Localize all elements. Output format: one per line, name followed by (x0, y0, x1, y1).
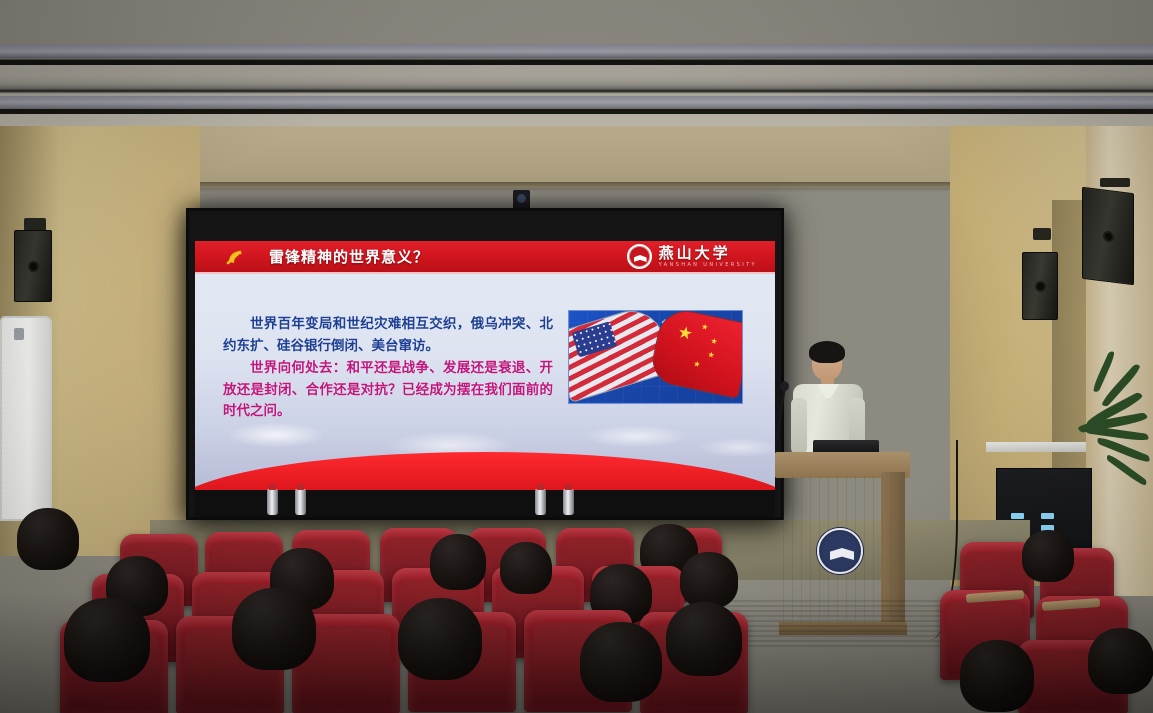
slide-title: 雷锋精神的世界意义？ (269, 246, 429, 267)
audience-head (17, 508, 79, 570)
ribbon-layer (195, 452, 775, 490)
ac-grill (0, 350, 38, 500)
audience-head (232, 588, 316, 670)
ceiling-beam (0, 44, 1153, 58)
slide-paragraph-1: 世界百年变局和世纪灾难相互交织，俄乌冲突、北约东扩、硅谷银行倒闭、美台窜访。 (223, 314, 553, 358)
audience-head (960, 640, 1034, 712)
slide-red-ribbon (195, 448, 775, 490)
slide-cloud-decoration (195, 386, 775, 456)
university-seal-icon (817, 528, 863, 574)
presenter-hair (809, 341, 845, 363)
audience-head (398, 598, 482, 680)
university-name-cn: 燕山大学 (659, 246, 757, 261)
star-icon: ★ (692, 360, 701, 369)
star-icon: ★ (707, 351, 716, 360)
audience-head (1022, 530, 1074, 582)
equipment-shelf (986, 442, 1086, 452)
auditorium-scene: 雷锋精神的世界意义？ 燕山大学 YANSHAN UNIVERSITY 世界百年变… (0, 0, 1153, 713)
star-icon: ★ (710, 337, 719, 346)
ceiling-mounted-camera (513, 190, 530, 210)
wall-speaker-left (14, 230, 52, 302)
audience-head (430, 534, 486, 590)
palm-frond (1092, 350, 1116, 393)
audience-head (666, 602, 742, 676)
water-bottle (535, 489, 546, 515)
presentation-slide: 雷锋精神的世界意义？ 燕山大学 YANSHAN UNIVERSITY 世界百年变… (195, 241, 775, 490)
ceiling-beam (0, 60, 1153, 65)
led-presentation-screen[interactable]: 雷锋精神的世界意义？ 燕山大学 YANSHAN UNIVERSITY 世界百年变… (186, 208, 784, 520)
star-icon: ★ (700, 323, 709, 332)
presenter-arm-left (791, 398, 807, 454)
audience-head (1088, 628, 1153, 694)
air-conditioner-unit (0, 316, 52, 521)
water-bottle (295, 489, 306, 515)
audience-head (680, 552, 738, 608)
soffit-shadow (150, 182, 1030, 192)
audience-head (580, 622, 662, 702)
speaker-mount-right-outer (1100, 178, 1130, 187)
water-bottle (267, 489, 278, 515)
wall-speaker-right-inner (1022, 252, 1058, 320)
slide-body: 世界百年变局和世纪灾难相互交织，俄乌冲突、北约东扩、硅谷银行倒闭、美台窜访。 世… (195, 274, 775, 490)
ac-badge (14, 328, 24, 340)
screen-lower-bezel (195, 490, 775, 517)
ceiling-beam (0, 96, 1153, 109)
rack-led-indicator (1011, 513, 1024, 519)
ceiling (0, 0, 1153, 132)
wall-speaker-right-outer (1082, 187, 1134, 285)
slide-title-bar: 雷锋精神的世界意义？ 燕山大学 YANSHAN UNIVERSITY (195, 241, 775, 274)
university-logo: 燕山大学 YANSHAN UNIVERSITY (627, 244, 757, 269)
speaker-mount-right-inner (1033, 228, 1051, 240)
rack-led-indicator (1041, 513, 1054, 519)
university-name-en: YANSHAN UNIVERSITY (659, 263, 757, 268)
university-seal-icon (627, 244, 652, 269)
star-icon: ★ (676, 324, 694, 344)
palm-frond (1085, 425, 1149, 442)
water-bottle (563, 489, 574, 515)
hammer-and-sickle-icon (225, 247, 245, 267)
audience-head (500, 542, 552, 594)
wall-back-upper (150, 126, 1030, 188)
audience-head (64, 598, 150, 682)
